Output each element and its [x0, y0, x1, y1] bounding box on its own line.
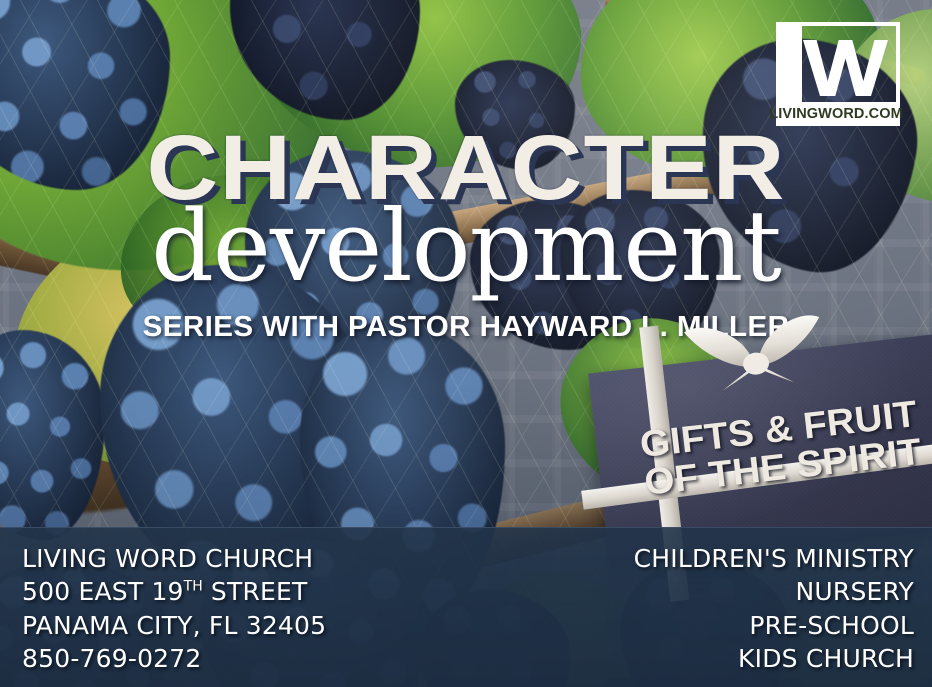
list-item: PRE-SCHOOL [634, 609, 914, 642]
footer-contact-info: LIVING WORD CHURCH 500 EAST 19TH STREET … [22, 542, 326, 675]
footer-church-name: LIVING WORD CHURCH [22, 542, 326, 575]
logo-wordmark-band: LIVINGWORD.COM [776, 102, 896, 126]
living-word-logo[interactable]: LIVINGWORD.COM [776, 22, 900, 126]
logo-wordmark-text: LIVINGWORD.COM [769, 106, 903, 122]
list-item: KIDS CHURCH [634, 642, 914, 675]
footer-street-address: 500 EAST 19TH STREET [22, 575, 326, 608]
logo-w-icon [803, 40, 888, 96]
list-item: CHILDREN'S MINISTRY [634, 542, 914, 575]
footer-bar: LIVING WORD CHURCH 500 EAST 19TH STREET … [0, 527, 932, 687]
footer-street-ordinal: TH [184, 579, 203, 595]
footer-street-number: 500 EAST 19 [22, 577, 184, 606]
footer-phone[interactable]: 850-769-0272 [22, 642, 326, 675]
list-item: NURSERY [634, 575, 914, 608]
flyer-canvas: LIVINGWORD.COM CHARACTER development SER… [0, 0, 932, 687]
footer-street-name: STREET [203, 577, 308, 606]
footer-city-state-zip: PANAMA CITY, FL 32405 [22, 609, 326, 642]
footer-ministry-list: CHILDREN'S MINISTRY NURSERY PRE-SCHOOL K… [634, 542, 914, 675]
page-title-development: development [0, 198, 932, 296]
